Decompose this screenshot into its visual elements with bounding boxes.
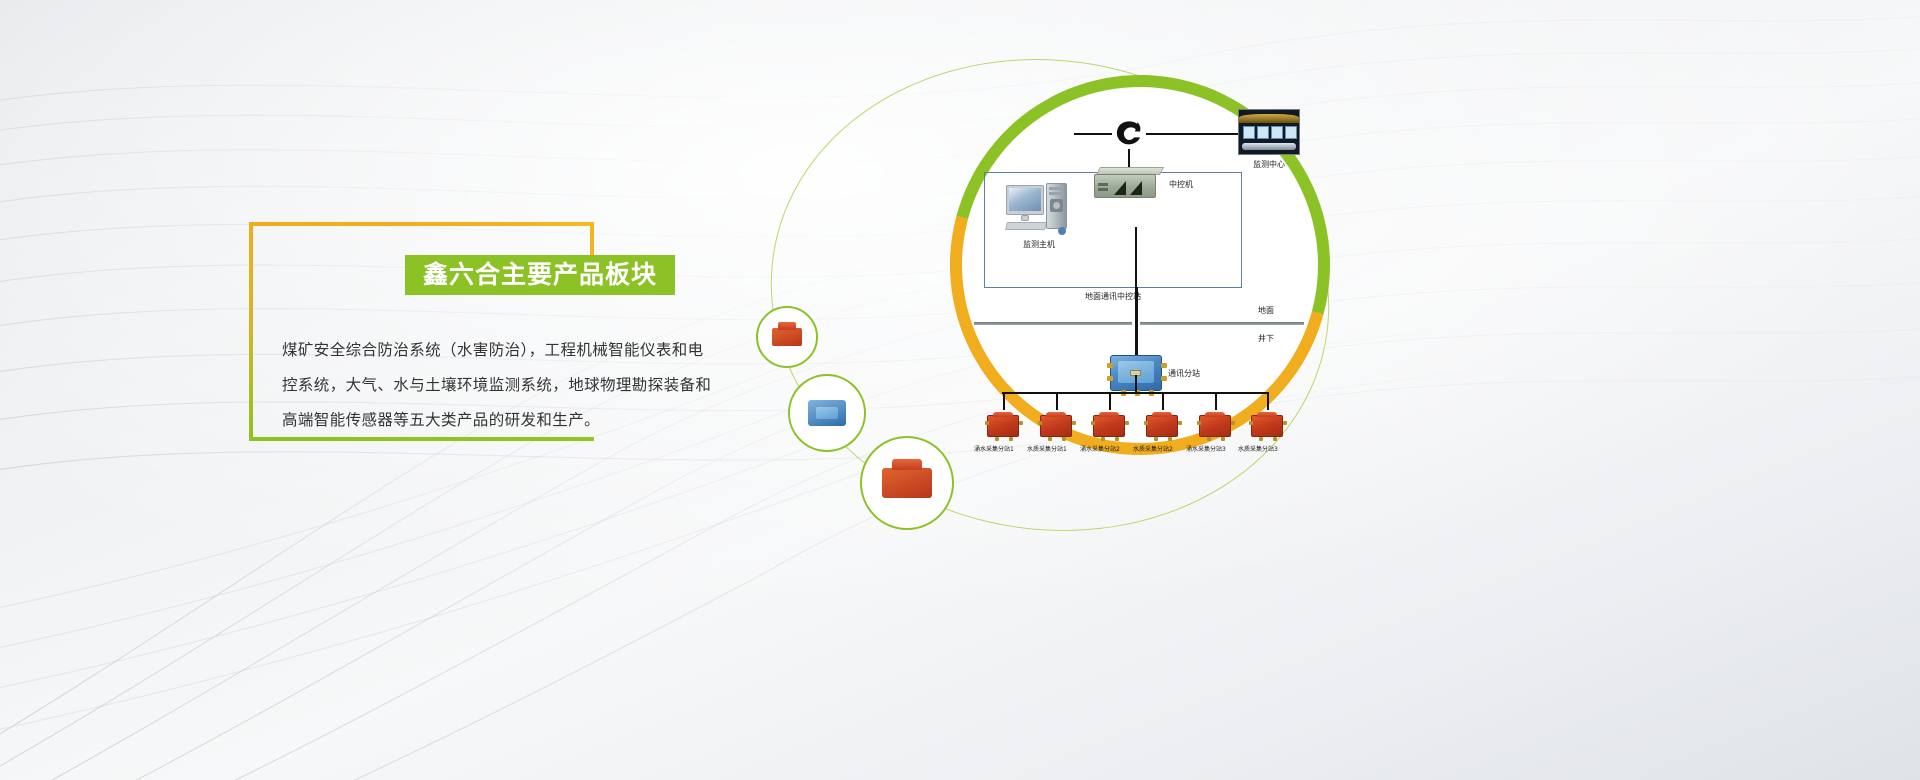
- label-monitor-center: 监测中心: [1238, 159, 1300, 170]
- collector-device-1: [987, 415, 1019, 437]
- wire-branch-2: [1056, 392, 1058, 410]
- label-comm-substation: 通讯分站: [1168, 368, 1200, 379]
- wire-internet-to-server: [1128, 149, 1130, 169]
- station-label-4: 水质采集分站2: [1133, 444, 1173, 453]
- wire-branch-4: [1162, 392, 1164, 410]
- wire-internet-to-center: [1146, 133, 1242, 135]
- station-label-1: 涌水采集分站1: [974, 444, 1014, 453]
- station-label-2: 水质采集分站1: [1027, 444, 1067, 453]
- internet-e-icon: [1112, 117, 1146, 151]
- right-illustration: 监测主机 中控机 监测中心: [730, 0, 1920, 780]
- collector-device-2: [1040, 415, 1072, 437]
- label-monitor-host: 监测主机: [1002, 239, 1076, 250]
- wire-trunk-underground: [1135, 287, 1138, 359]
- label-ground-comm-station: 地面通讯中控站: [984, 291, 1242, 302]
- collector-device-6: [1251, 415, 1283, 437]
- wire-branch-3: [1109, 392, 1111, 410]
- title-banner: 鑫六合主要产品板块: [405, 255, 675, 295]
- wire-branch-5: [1215, 392, 1217, 410]
- system-architecture-diagram: 监测主机 中控机 监测中心: [962, 87, 1318, 443]
- wire-branch-6: [1267, 392, 1269, 410]
- left-content-panel: 鑫六合主要产品板块 煤矿安全综合防治系统（水害防治），工程机械智能仪表和电控系统…: [0, 0, 900, 780]
- wire-branch-1: [1003, 392, 1005, 410]
- station-label-6: 水质采集分站3: [1238, 444, 1278, 453]
- wire-server-down: [1135, 227, 1137, 289]
- collector-device-4: [1146, 415, 1178, 437]
- video-wall-icon: [1238, 109, 1300, 155]
- wire-substation-down: [1135, 375, 1137, 393]
- wire-host-to-internet: [1074, 133, 1112, 135]
- wire-branch-bus: [1002, 392, 1268, 394]
- page-title: 鑫六合主要产品板块: [423, 255, 657, 295]
- desktop-computer-icon: [1006, 183, 1072, 235]
- collector-device-3: [1093, 415, 1125, 437]
- station-label-5: 涌水采集分站3: [1186, 444, 1226, 453]
- server-rack-icon: [1094, 167, 1166, 199]
- station-label-3: 涌水采集分站2: [1080, 444, 1120, 453]
- body-paragraph: 煤矿安全综合防治系统（水害防治），工程机械智能仪表和电控系统，大气、水与土壤环境…: [282, 333, 712, 438]
- label-surface: 地面: [1258, 305, 1274, 316]
- frame-left-edge: [249, 222, 253, 441]
- collector-device-5: [1199, 415, 1231, 437]
- label-underground: 井下: [1258, 333, 1274, 344]
- label-control-machine: 中控机: [1169, 179, 1193, 190]
- frame-top-edge: [249, 222, 594, 226]
